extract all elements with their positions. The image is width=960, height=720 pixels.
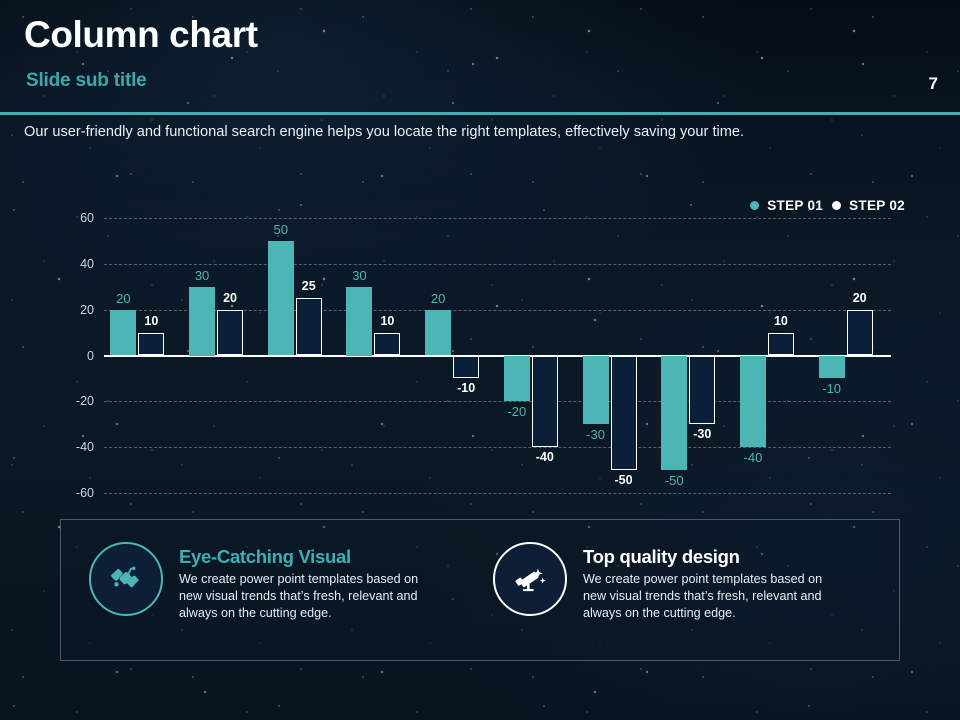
y-axis-tick-label: -20 xyxy=(76,394,94,408)
column-chart: 6040200-20-40-60 2030503020-20-30-50-40-… xyxy=(58,218,903,493)
feature-title: Eye-Catching Visual xyxy=(179,546,419,568)
y-axis-tick-label: 60 xyxy=(80,211,94,225)
chart-bar[interactable] xyxy=(138,333,164,356)
chart-bar[interactable] xyxy=(217,310,243,356)
chart-bar[interactable] xyxy=(768,333,794,356)
y-axis-tick-label: 20 xyxy=(80,303,94,317)
chart-y-axis: 6040200-20-40-60 xyxy=(58,218,94,493)
chart-bar[interactable] xyxy=(661,356,687,471)
features-panel: Eye-Catching Visual We create power poin… xyxy=(60,519,900,661)
chart-bar-value-label: 20 xyxy=(421,291,455,306)
chart-bar-value-label: -10 xyxy=(815,381,849,396)
legend-dot-teal xyxy=(750,201,759,210)
chart-gridline xyxy=(104,401,891,402)
chart-bar[interactable] xyxy=(268,241,294,356)
chart-bar-value-label: 30 xyxy=(342,268,376,283)
legend-dot-white xyxy=(832,201,841,210)
chart-bar[interactable] xyxy=(346,287,372,356)
feature-card-top-quality-design[interactable]: Top quality design We create power point… xyxy=(493,542,863,622)
chart-plot-area: 2030503020-20-30-50-40-1010202510-10-40-… xyxy=(104,218,891,493)
chart-bar[interactable] xyxy=(583,356,609,425)
chart-bar-value-label: 10 xyxy=(134,314,168,328)
chart-bar-value-label: 20 xyxy=(106,291,140,306)
feature-description: We create power point templates based on… xyxy=(179,571,419,622)
chart-bar[interactable] xyxy=(532,356,558,448)
chart-bar[interactable] xyxy=(689,356,715,425)
feature-text-block: Eye-Catching Visual We create power poin… xyxy=(179,542,419,622)
chart-bar[interactable] xyxy=(374,333,400,356)
chart-bar[interactable] xyxy=(189,287,215,356)
legend-label-step-01: STEP 01 xyxy=(767,198,823,213)
chart-bar-value-label: -30 xyxy=(685,427,719,441)
legend-label-step-02: STEP 02 xyxy=(849,198,905,213)
chart-bar[interactable] xyxy=(847,310,873,356)
legend-item-step-01[interactable]: STEP 01 xyxy=(750,198,823,213)
chart-bar-value-label: -50 xyxy=(657,473,691,488)
header-divider xyxy=(0,112,960,115)
chart-bar[interactable] xyxy=(504,356,530,402)
feature-description: We create power point templates based on… xyxy=(583,571,823,622)
telescope-icon xyxy=(493,542,567,616)
chart-gridline xyxy=(104,264,891,265)
chart-bar[interactable] xyxy=(296,298,322,355)
chart-gridline xyxy=(104,218,891,219)
chart-bar[interactable] xyxy=(453,356,479,379)
chart-gridline xyxy=(104,493,891,494)
slide-header: Column chart Slide sub title 7 xyxy=(0,0,960,113)
chart-bar-value-label: 10 xyxy=(370,314,404,328)
chart-bar[interactable] xyxy=(425,310,451,356)
chart-bar-value-label: -40 xyxy=(528,450,562,464)
y-axis-tick-label: -40 xyxy=(76,440,94,454)
page-number: 7 xyxy=(929,74,938,94)
chart-bar-value-label: -20 xyxy=(500,404,534,419)
y-axis-tick-label: 40 xyxy=(80,257,94,271)
feature-text-block: Top quality design We create power point… xyxy=(583,542,823,622)
chart-legend: STEP 01 STEP 02 xyxy=(750,198,905,213)
y-axis-tick-label: -60 xyxy=(76,486,94,500)
chart-bar-value-label: 10 xyxy=(764,314,798,328)
chart-bar-value-label: 50 xyxy=(264,222,298,237)
chart-bar-value-label: -10 xyxy=(449,381,483,395)
chart-bar[interactable] xyxy=(110,310,136,356)
intro-paragraph: Our user-friendly and functional search … xyxy=(24,121,904,144)
chart-bar[interactable] xyxy=(819,356,845,379)
chart-bar-value-label: -30 xyxy=(579,427,613,442)
chart-gridline xyxy=(104,447,891,448)
legend-item-step-02[interactable]: STEP 02 xyxy=(832,198,905,213)
chart-bar-value-label: -50 xyxy=(607,473,641,487)
satellite-icon xyxy=(89,542,163,616)
chart-bar[interactable] xyxy=(740,356,766,448)
slide-canvas: Column chart Slide sub title 7 Our user-… xyxy=(0,0,960,720)
chart-bar-value-label: 30 xyxy=(185,268,219,283)
feature-title: Top quality design xyxy=(583,546,823,568)
chart-bar-value-label: 25 xyxy=(292,279,326,293)
y-axis-tick-label: 0 xyxy=(87,349,94,363)
chart-bar-value-label: -40 xyxy=(736,450,770,465)
feature-card-eye-catching-visual[interactable]: Eye-Catching Visual We create power poin… xyxy=(89,542,459,622)
chart-bar[interactable] xyxy=(611,356,637,471)
chart-bar-value-label: 20 xyxy=(843,291,877,305)
page-title: Column chart xyxy=(24,15,258,56)
page-subtitle: Slide sub title xyxy=(26,70,147,92)
chart-bar-value-label: 20 xyxy=(213,291,247,305)
